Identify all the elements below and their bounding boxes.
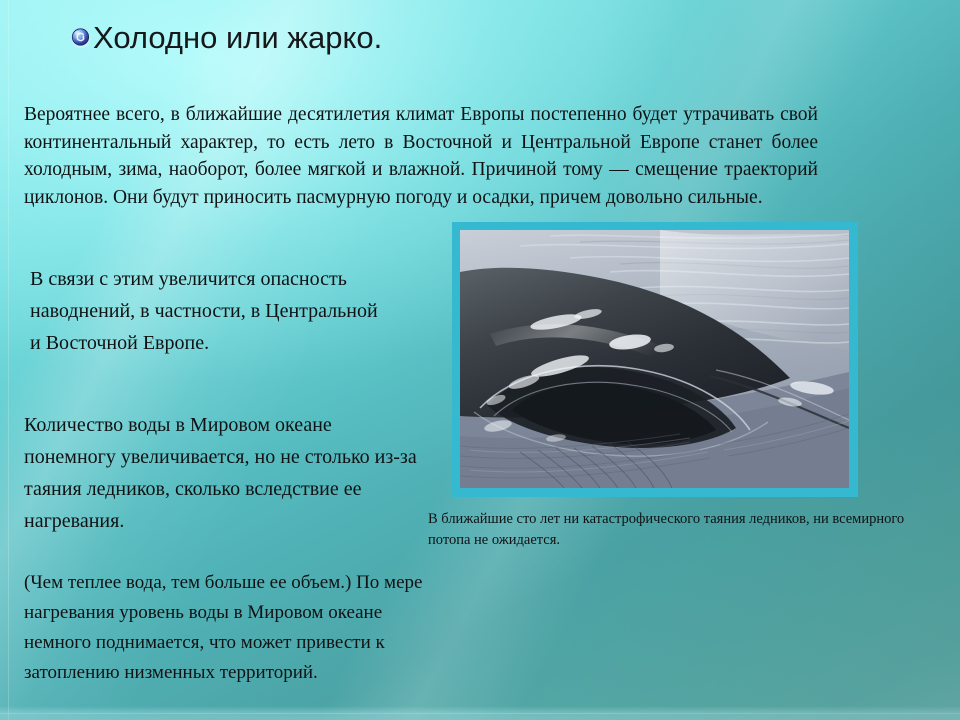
at-swirl-bullet-icon (70, 27, 92, 49)
floods-paragraph: В связи с этим увеличится опасность наво… (30, 263, 390, 359)
ocean-water-paragraph: Количество воды в Мировом океане понемно… (24, 409, 424, 537)
water-volume-paragraph: (Чем теплее вода, тем больше ее объем.) … (24, 568, 424, 688)
slide-title-text: Холодно или жарко. (93, 22, 382, 55)
photo-caption: В ближайшие сто лет ни катастрофического… (428, 509, 943, 551)
intro-paragraph: Вероятнее всего, в ближайшие десятилетия… (24, 101, 818, 211)
slide-bottom-gradient (0, 706, 960, 720)
slide-left-edge-line (8, 0, 9, 720)
slide-canvas: Холодно или жарко. Вероятнее всего, в бл… (0, 0, 960, 720)
ocean-wave-photograph (460, 230, 849, 488)
photo-frame (452, 222, 858, 497)
slide-title: Холодно или жарко. (70, 22, 382, 55)
